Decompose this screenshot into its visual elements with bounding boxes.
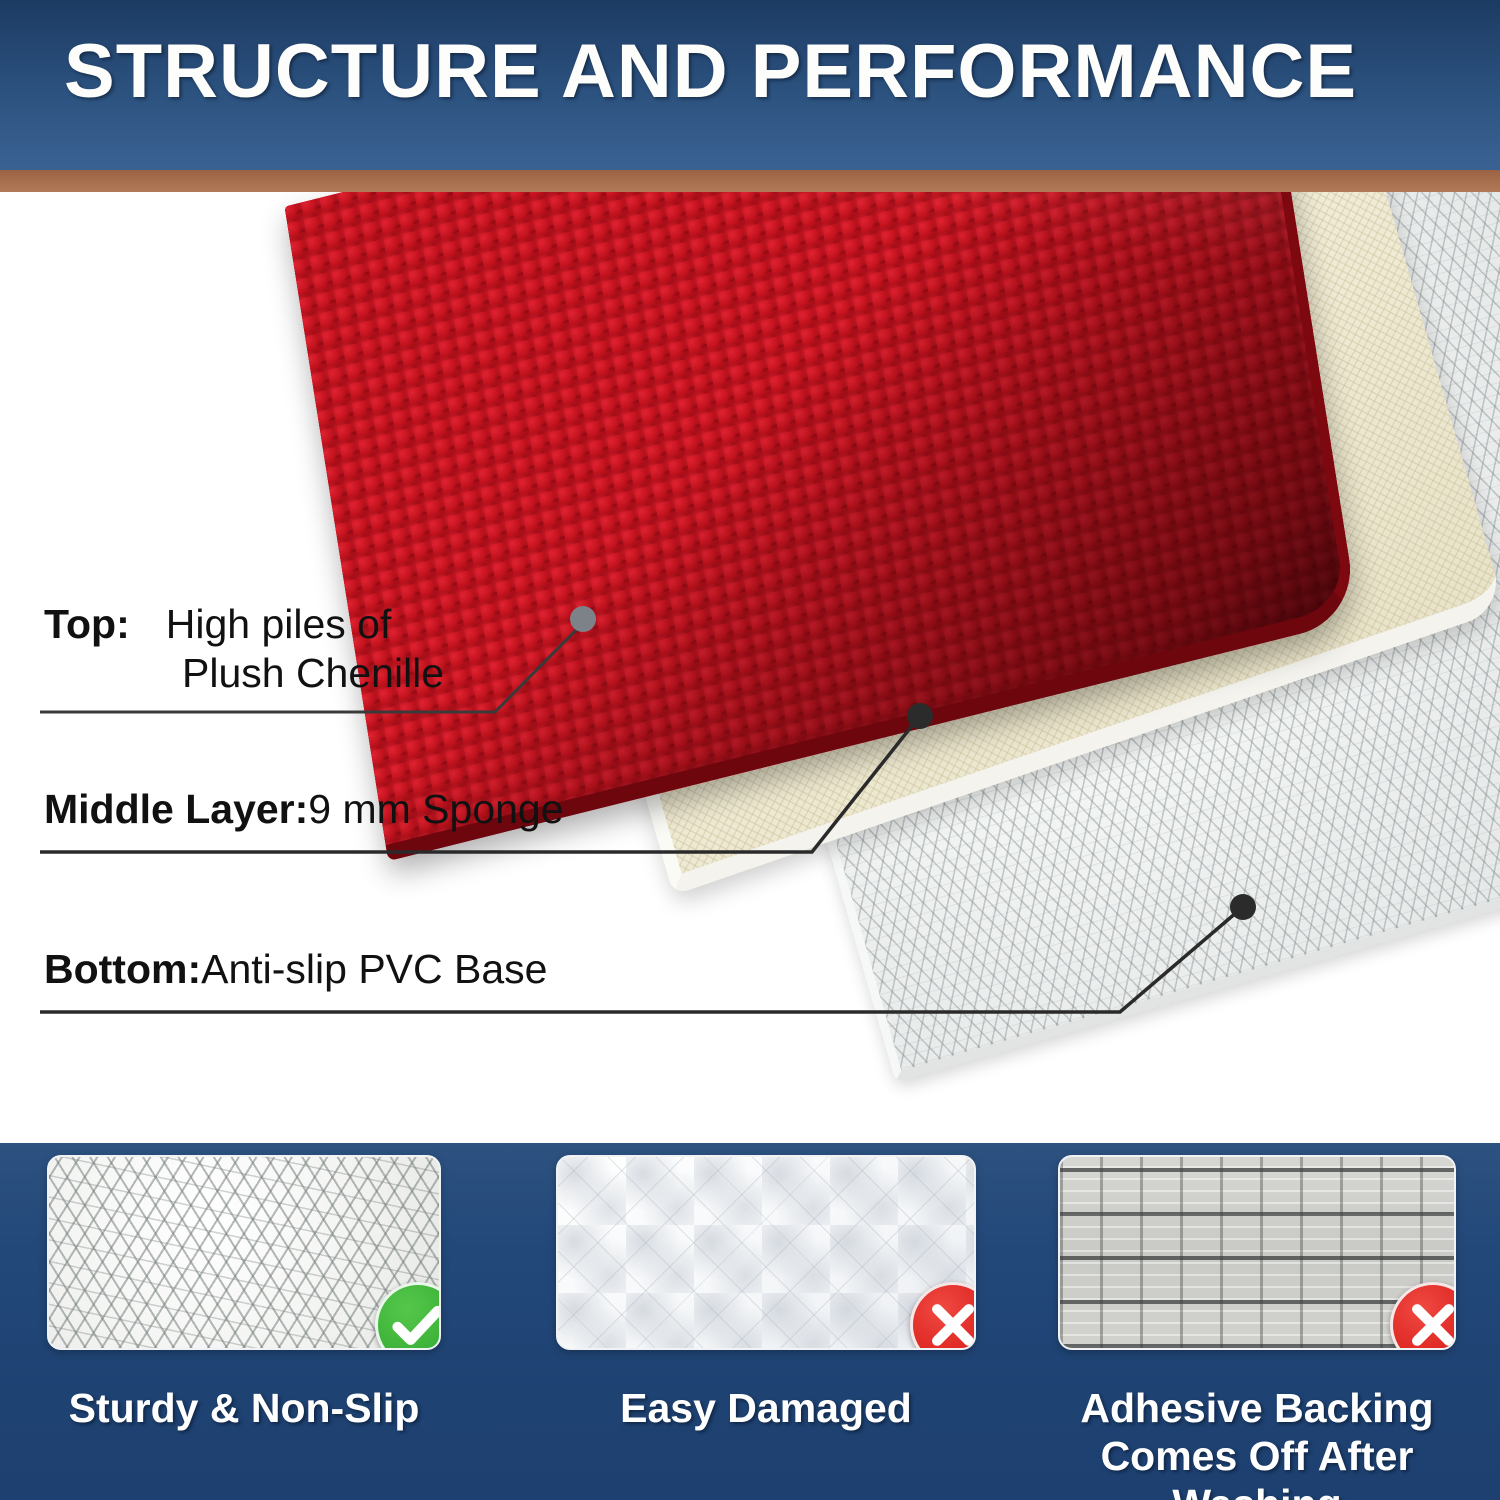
comparison-card-sturdy: Sturdy & Non-Slip — [47, 1155, 441, 1432]
page-title: STRUCTURE AND PERFORMANCE — [64, 34, 1464, 110]
spec-top: Top:High piles of Plush Chenille — [44, 600, 444, 698]
spec-bottom-value: Anti-slip PVC Base — [201, 946, 547, 992]
spec-bottom-label: Bottom: — [44, 946, 201, 992]
comparison-section: Sturdy & Non-Slip Easy Damaged — [0, 1143, 1500, 1500]
comparison-card-easy-damaged: Easy Damaged — [556, 1155, 976, 1432]
spec-middle-label: Middle Layer: — [44, 786, 308, 832]
spec-bottom: Bottom:Anti-slip PVC Base — [44, 945, 547, 994]
swatch-embossed-foam — [556, 1155, 976, 1350]
comparison-caption-sturdy: Sturdy & Non-Slip — [47, 1384, 441, 1432]
comparison-caption-easy-damaged: Easy Damaged — [556, 1384, 976, 1432]
infographic-page: STRUCTURE AND PERFORMANCE Top:High piles… — [0, 0, 1500, 1500]
header-accent-stripe — [0, 170, 1500, 192]
cross-icon — [1390, 1282, 1456, 1350]
spec-middle: Middle Layer:9 mm Sponge — [44, 785, 564, 834]
swatch-grey-woven-grid — [1058, 1155, 1456, 1350]
spec-top-value-line1: High piles of — [166, 601, 392, 647]
spec-middle-value: 9 mm Sponge — [308, 786, 563, 832]
comparison-caption-adhesive-backing: Adhesive Backing Comes Off After Washing — [1058, 1384, 1456, 1500]
swatch-open-cell-pvc-mesh — [47, 1155, 441, 1350]
comparison-card-adhesive-backing: Adhesive Backing Comes Off After Washing — [1058, 1155, 1456, 1500]
spec-top-label: Top: — [44, 601, 130, 647]
spec-top-value-line2: Plush Chenille — [182, 650, 444, 696]
check-icon — [375, 1282, 441, 1350]
cross-icon — [910, 1282, 976, 1350]
